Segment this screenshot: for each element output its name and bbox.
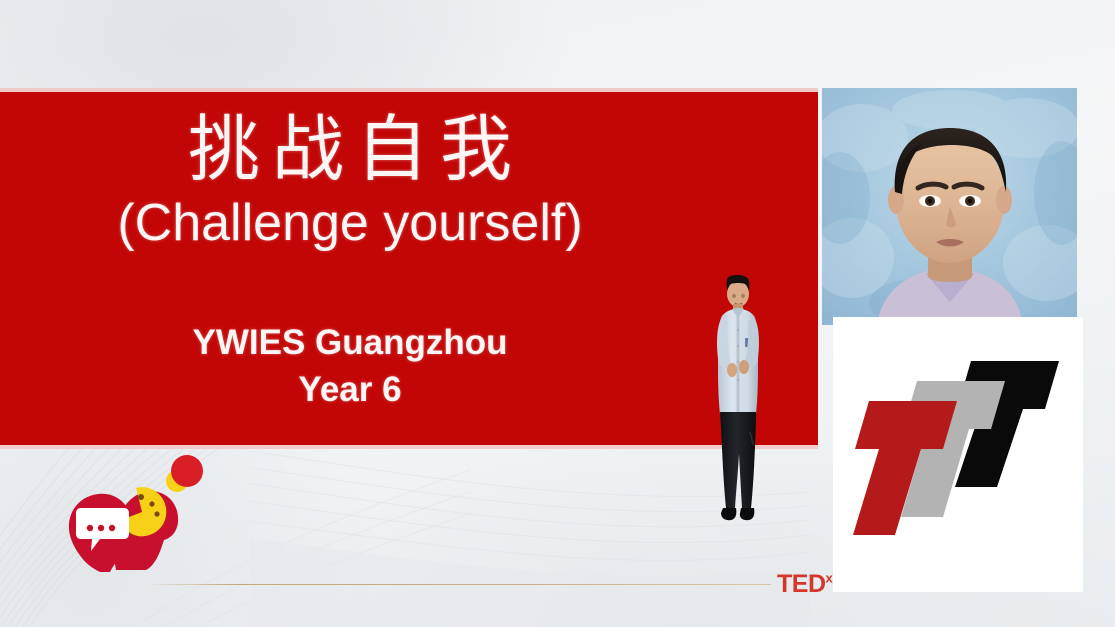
tedx-wordmark: TEDx (777, 570, 833, 599)
red-panel-bottom-edge (0, 445, 818, 449)
accent-dots (160, 454, 206, 494)
slide-title-english: (Challenge yourself) (0, 197, 700, 249)
tedx-word: TED (777, 570, 826, 598)
speaker-figure (700, 272, 775, 530)
slide-subtitle-school: YWIES Guangzhou (0, 325, 700, 360)
gold-divider-rule (146, 584, 771, 585)
slide-subtitle-year: Year 6 (0, 372, 700, 407)
tedx-superscript-x: x (826, 571, 833, 586)
title-panel: 挑战自我 (Challenge yourself) YWIES Guangzho… (0, 92, 818, 445)
student-portrait-photo (822, 88, 1077, 325)
slide-title-chinese: 挑战自我 (0, 114, 700, 186)
ttt-logo-panel (833, 317, 1083, 592)
ttt-logo (847, 339, 1071, 557)
slide-stage: 挑战自我 (Challenge yourself) YWIES Guangzho… (0, 0, 1115, 627)
